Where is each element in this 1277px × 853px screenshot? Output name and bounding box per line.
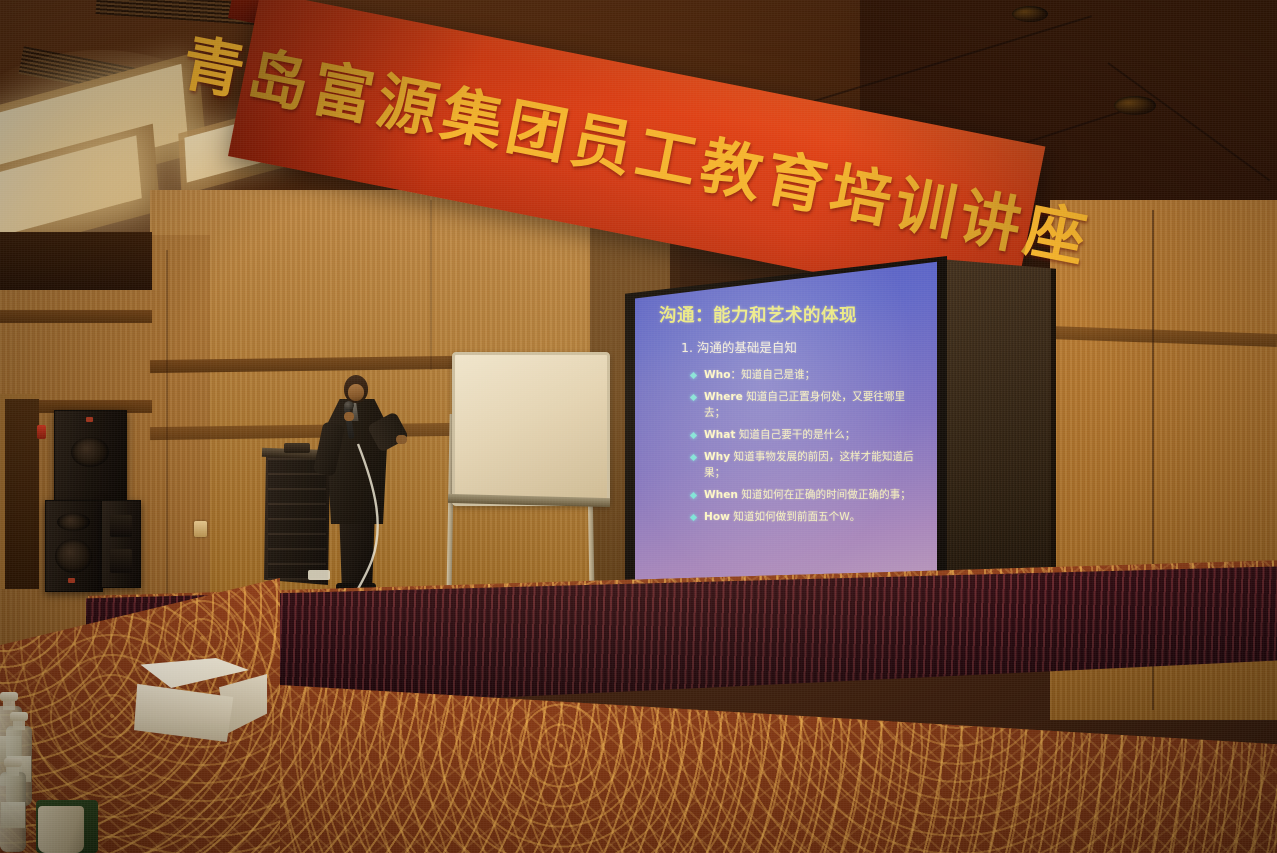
bottle-cap	[0, 692, 18, 701]
wall-trim-band	[0, 310, 152, 323]
slide-subtitle: 1. 沟通的基础是自知	[681, 337, 923, 356]
bullet-keyword: Who	[704, 369, 731, 381]
slide-bullet-item: Who：知道自己是谁；	[691, 368, 923, 384]
presenter-right-hand	[396, 435, 407, 444]
cloth-covered-box	[131, 658, 269, 746]
wall-seam	[166, 250, 168, 600]
bullet-text: 知道如何在正确的时间做正确的事；	[738, 489, 911, 501]
diamond-bullet-icon	[690, 514, 697, 521]
pa-speaker-top	[54, 410, 127, 502]
bullet-keyword: Why	[704, 451, 730, 463]
slide-bullet-item: Why 知道事物发展的前因，这样才能知道后果；	[691, 450, 923, 481]
diamond-bullet-icon	[690, 394, 697, 401]
diamond-bullet-icon	[690, 371, 697, 378]
seminar-hall-photo: 青岛富源集团员工教育培训讲座	[0, 0, 1277, 853]
slide-bullet-item: When 知道如何在正确的时间做正确的事；	[691, 488, 923, 504]
fire-alarm-icon	[37, 425, 46, 439]
microphone-head-icon	[344, 401, 354, 410]
speaker-horn	[57, 513, 90, 531]
projection-screen: 沟通：能力和艺术的体现 1. 沟通的基础是自知 Who：知道自己是谁；Where…	[625, 256, 947, 616]
bullet-text: 知道事物发展的前因，这样才能知道后果；	[704, 451, 914, 479]
screen-side-panel	[928, 258, 1056, 618]
bullet-keyword: What	[704, 429, 735, 441]
diamond-bullet-icon	[690, 431, 697, 438]
whiteboard	[440, 352, 616, 607]
paper-cup	[38, 806, 84, 853]
speaker-badge	[86, 417, 93, 422]
speaker-woofer	[55, 539, 92, 573]
presentation-slide: 沟通：能力和艺术的体现 1. 沟通的基础是自知 Who：知道自己是谁；Where…	[635, 256, 937, 616]
slide-title: 沟通：能力和艺术的体现	[659, 302, 923, 327]
bullet-text: 知道自己要干的是什么；	[735, 429, 855, 441]
wall-outlet	[194, 521, 207, 537]
presenter-legs	[336, 518, 378, 590]
doorway-left[interactable]	[0, 394, 39, 589]
speaker-cone	[71, 437, 109, 467]
bottle-cap	[10, 712, 28, 721]
speaker-port	[110, 549, 132, 573]
screen-surface: 沟通：能力和艺术的体现 1. 沟通的基础是自知 Who：知道自己是谁；Where…	[635, 256, 937, 616]
speaker-badge	[68, 578, 75, 583]
bullet-text: 知道如何做到前面五个W。	[730, 511, 860, 523]
bullet-keyword: When	[704, 489, 738, 501]
bullet-keyword: How	[704, 511, 730, 523]
presenter-face	[348, 384, 364, 401]
ceiling-downlight	[1114, 96, 1156, 115]
bullet-keyword: Where	[704, 391, 743, 403]
wall-seam	[430, 200, 432, 370]
cable-connector	[308, 570, 330, 580]
podium-items	[284, 443, 310, 453]
whiteboard-surface	[452, 352, 610, 506]
pa-speaker-bottom-left	[45, 500, 103, 592]
slide-bullet-item: What 知道自己要干的是什么；	[691, 428, 923, 444]
wall-recess-left	[0, 232, 152, 290]
bullet-text: ：知道自己是谁；	[731, 369, 816, 381]
presenter	[316, 375, 408, 590]
speaker-port	[110, 515, 132, 537]
bottle-label	[1, 802, 25, 828]
bottle-cap	[4, 758, 22, 767]
slide-bullet-list: Who：知道自己是谁；Where 知道自己正置身何处，又要往哪里去；What 知…	[691, 368, 923, 526]
ceiling-downlight	[1012, 6, 1048, 22]
slide-bullet-item: How 知道如何做到前面五个W。	[691, 510, 923, 526]
presenter-left-hand	[344, 412, 354, 421]
diamond-bullet-icon	[690, 491, 697, 498]
box-top-face	[131, 658, 249, 688]
diamond-bullet-icon	[690, 454, 697, 461]
slide-bullet-item: Where 知道自己正置身何处，又要往哪里去；	[691, 390, 923, 421]
pa-speaker-bottom-right	[101, 500, 141, 588]
